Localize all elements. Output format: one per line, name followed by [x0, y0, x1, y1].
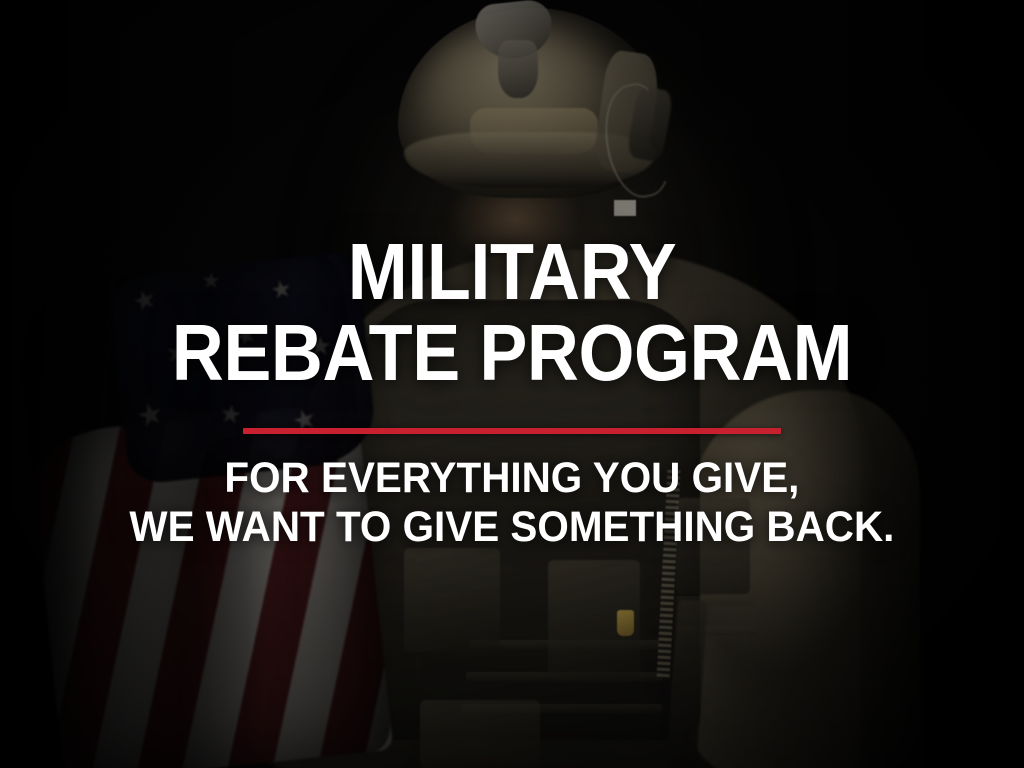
headline-line-1: MILITARY [172, 235, 852, 309]
subhead-line-2: WE WANT TO GIVE SOMETHING BACK. [129, 505, 894, 551]
accent-divider [243, 428, 781, 434]
headline-line-2: REBATE PROGRAM [172, 316, 852, 390]
poster-subtitle: FOR EVERYTHING YOU GIVE, WE WANT TO GIVE… [105, 456, 919, 551]
poster-text-block: MILITARY REBATE PROGRAM FOR EVERYTHING Y… [0, 0, 1024, 768]
page-title: MILITARY REBATE PROGRAM [134, 21, 890, 390]
military-rebate-poster: ★ ★ ★ ★ ★ ★ ★ ★ ★ MILITARY REBATE PROGRA… [0, 0, 1024, 768]
subhead-line-1: FOR EVERYTHING YOU GIVE, [129, 456, 894, 502]
